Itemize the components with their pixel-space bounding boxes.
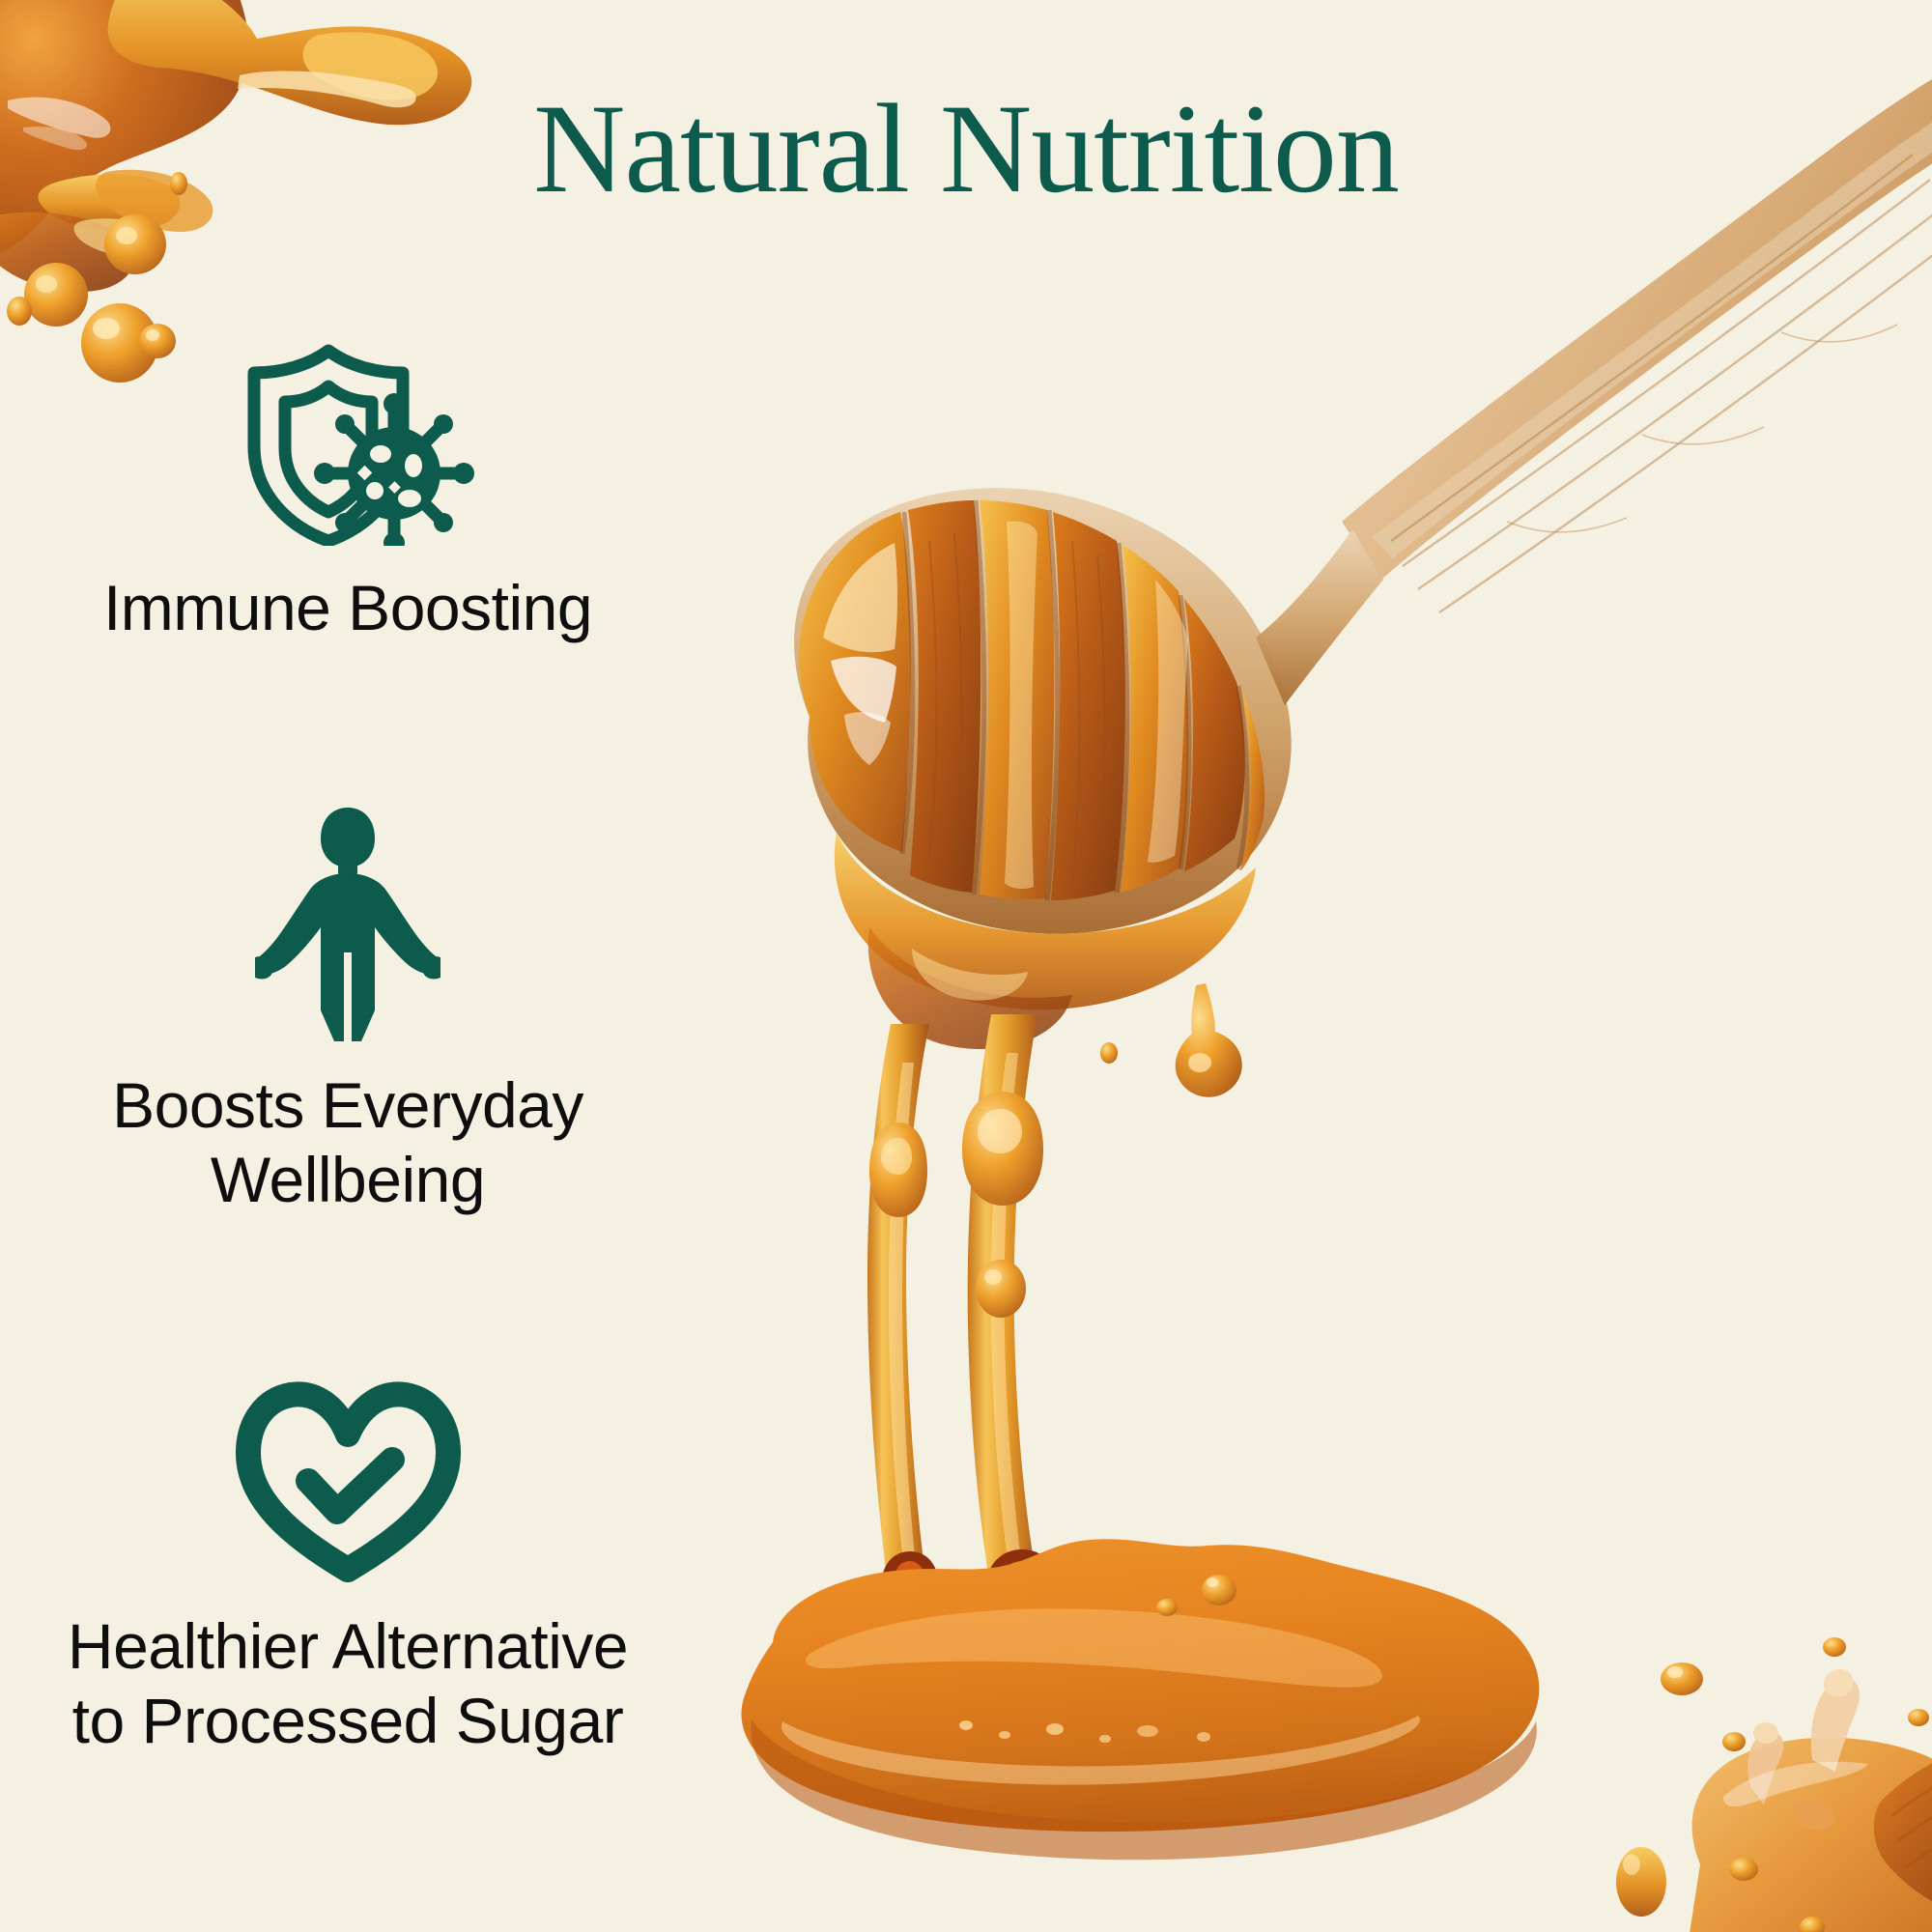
feature-wellbeing-line-1: Boosts Everyday (112, 1068, 583, 1143)
feature-sugar-label: Healthier Alternative to Processed Sugar (68, 1609, 628, 1757)
page-title: Natural Nutrition (0, 85, 1932, 213)
feature-immune-label: Immune Boosting (103, 571, 592, 645)
feature-everyday-wellbeing: Boosts Everyday Wellbeing (39, 802, 657, 1216)
feature-wellbeing-line-2: Wellbeing (112, 1143, 583, 1217)
poster-canvas: Natural Nutrition (0, 0, 1932, 1932)
feature-healthier-alternative: Healthier Alternative to Processed Sugar (39, 1377, 657, 1757)
virus-glyph (314, 393, 474, 546)
person-wellbeing-icon (255, 802, 440, 1043)
feature-wellbeing-label: Boosts Everyday Wellbeing (112, 1068, 583, 1216)
honey-pool (741, 1539, 1539, 1860)
honey-streams (867, 983, 1242, 1633)
dipper-head (794, 488, 1383, 933)
feature-immune-line-1: Immune Boosting (103, 571, 592, 645)
feature-sugar-line-2: to Processed Sugar (68, 1684, 628, 1758)
bottom-right-honey-splash (1616, 1637, 1932, 1932)
shield-virus-icon (240, 338, 481, 546)
heart-check-icon (235, 1377, 462, 1584)
feature-sugar-line-1: Healthier Alternative (68, 1609, 628, 1684)
feature-immune-boosting: Immune Boosting (39, 338, 657, 645)
